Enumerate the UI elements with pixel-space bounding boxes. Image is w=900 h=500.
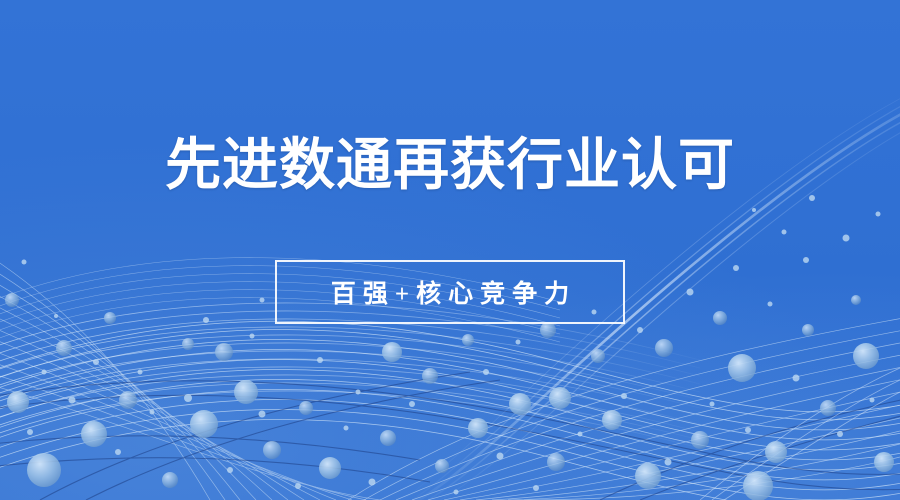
promo-banner: 先进数通再获行业认可 百强+核心竞争力 xyxy=(0,0,900,500)
banner-content: 先进数通再获行业认可 百强+核心竞争力 xyxy=(0,0,900,500)
subtitle-text: 百强+核心竞争力 xyxy=(324,274,576,310)
page-title: 先进数通再获行业认可 xyxy=(165,136,735,196)
subtitle-badge: 百强+核心竞争力 xyxy=(275,260,625,324)
